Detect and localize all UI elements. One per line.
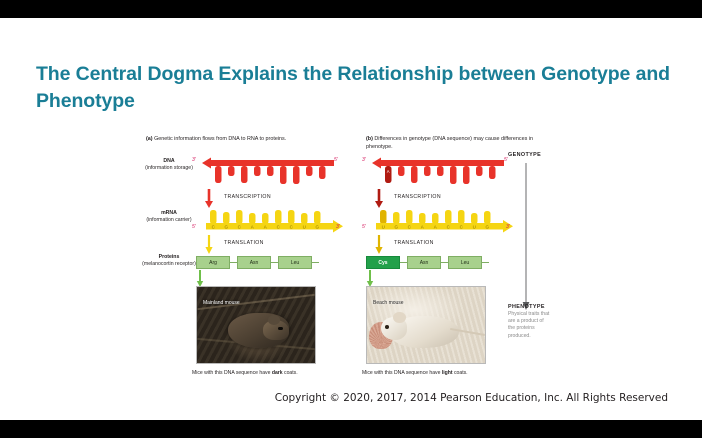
- panel-a-photo-caption: Mice with this DNA sequence have dark co…: [192, 370, 342, 376]
- panel-a-dna-strand: 3′ 5′: [202, 156, 334, 188]
- genotype-to-phenotype-arrow-icon: [521, 163, 531, 311]
- amino-acid-box: Leu: [278, 256, 312, 269]
- mrna-label-title: mRNA: [142, 210, 196, 217]
- caption-emphasis: dark: [272, 370, 283, 376]
- dna-label-title: DNA: [142, 158, 196, 165]
- panel-a-transcription-arrow-icon: [204, 189, 214, 209]
- amino-acid-box: Asn: [237, 256, 271, 269]
- panel-b-photo-caption: Mice with this DNA sequence have light c…: [362, 370, 512, 376]
- svg-text:C: C: [460, 225, 463, 230]
- peptide-bond: [400, 262, 407, 263]
- genotype-phenotype-axis: GENOTYPE PHENOTYPE Physical traits that …: [508, 152, 578, 158]
- letterbox-top: [0, 0, 702, 18]
- caption-suffix: coats.: [283, 370, 298, 376]
- copyright-notice: Copyright © 2020, 2017, 2014 Pearson Edu…: [275, 392, 668, 404]
- panel-a-protein-chain: Arg Asn Leu: [196, 256, 319, 269]
- amino-acid-box: Asn: [407, 256, 441, 269]
- central-dogma-figure: (a) Genetic information flows from DNA t…: [140, 116, 580, 381]
- protein-label-title: Proteins: [142, 254, 196, 261]
- mouse-ear: [268, 315, 280, 325]
- svg-text:G: G: [224, 225, 228, 230]
- mouse-eye: [278, 327, 282, 331]
- panel-b-mrna-left-prime: 5′: [362, 224, 366, 230]
- svg-text:A: A: [434, 225, 437, 230]
- protein-label-subtitle: (melanocortin receptor): [142, 261, 196, 267]
- protein-row-label: Proteins (melanocortin receptor): [142, 254, 196, 269]
- svg-text:U: U: [303, 225, 306, 230]
- mouse-eye: [385, 325, 389, 329]
- dna-row-label: DNA (information storage): [142, 158, 196, 173]
- panel-b-tag: (b): [366, 136, 373, 142]
- peptide-bond: [441, 262, 448, 263]
- svg-text:A: A: [251, 225, 254, 230]
- svg-text:C: C: [408, 225, 411, 230]
- panel-a-dna-right-prime: 5′: [334, 157, 338, 163]
- svg-text:G: G: [485, 225, 489, 230]
- panel-b-caption-text: Differences in genotype (DNA sequence) m…: [366, 136, 533, 150]
- dna-backbone-icon: A: [372, 156, 504, 188]
- panel-b-protein-chain: Cys Asn Leu: [366, 256, 489, 269]
- caption-emphasis: light: [442, 370, 453, 376]
- dna-label-subtitle: (information storage): [145, 165, 193, 171]
- svg-text:A: A: [264, 225, 267, 230]
- slide-canvas: The Central Dogma Explains the Relations…: [0, 18, 702, 420]
- panel-b-mrna-strand: 5′ 3′: [372, 208, 514, 234]
- panel-a-mrna-left-prime: 5′: [192, 224, 196, 230]
- panel-a-mrna-strand: 5′ 3′: [202, 208, 344, 234]
- phenotype-label: PHENOTYPE: [508, 304, 550, 310]
- mrna-backbone-icon: U G C A A C C U G: [372, 208, 514, 234]
- caption-prefix: Mice with this DNA sequence have: [362, 370, 442, 376]
- svg-text:A: A: [421, 225, 424, 230]
- panel-a-caption-text: Genetic information flows from DNA to RN…: [153, 136, 287, 142]
- panel-b-translation-arrow-icon: [374, 235, 384, 255]
- panel-b-dna-strand: 3′ 5′: [372, 156, 504, 188]
- panel-b-transcription-arrow-icon: [374, 189, 384, 209]
- slide-frame: The Central Dogma Explains the Relations…: [0, 0, 702, 438]
- amino-acid-box: Cys: [366, 256, 400, 269]
- svg-text:C: C: [212, 225, 215, 230]
- mrna-row-label: mRNA (information carrier): [142, 210, 196, 225]
- svg-text:C: C: [277, 225, 280, 230]
- genotype-label: GENOTYPE: [508, 152, 578, 158]
- peptide-bond: [312, 262, 319, 263]
- letterbox-bottom: [0, 420, 702, 438]
- panel-a-mrna-right-prime: 3′: [336, 224, 340, 230]
- phenotype-block: PHENOTYPE Physical traits that are a pro…: [508, 304, 550, 340]
- panel-b-translation-label: TRANSLATION: [394, 240, 434, 246]
- svg-text:C: C: [290, 225, 293, 230]
- svg-text:G: G: [315, 225, 319, 230]
- panel-b-transcription-label: TRANSCRIPTION: [394, 194, 441, 200]
- beach-mouse-photo-label: Beach mouse: [373, 300, 404, 306]
- svg-text:U: U: [382, 225, 385, 230]
- beach-mouse-photo: Beach mouse: [366, 286, 486, 364]
- panel-a-translation-arrow-icon: [204, 235, 214, 255]
- peptide-bond: [271, 262, 278, 263]
- svg-text:C: C: [238, 225, 241, 230]
- panel-a-transcription-label: TRANSCRIPTION: [224, 194, 271, 200]
- svg-text:A: A: [387, 169, 390, 174]
- svg-text:G: G: [394, 225, 398, 230]
- svg-text:C: C: [447, 225, 450, 230]
- panel-a-caption: (a) Genetic information flows from DNA t…: [146, 136, 314, 144]
- mrna-label-subtitle: (information carrier): [146, 217, 191, 223]
- svg-text:U: U: [473, 225, 476, 230]
- mrna-backbone-icon: C G C A A C C U G: [202, 208, 344, 234]
- mainland-mouse-photo: Mainland mouse: [196, 286, 316, 364]
- caption-suffix: coats.: [453, 370, 468, 376]
- panel-a-dna-left-prime: 3′: [192, 157, 196, 163]
- amino-acid-box: Arg: [196, 256, 230, 269]
- panel-b-mrna-right-prime: 3′: [506, 224, 510, 230]
- peptide-bond: [482, 262, 489, 263]
- peptide-bond: [230, 262, 237, 263]
- panel-b-caption: (b) Differences in genotype (DNA sequenc…: [366, 136, 534, 152]
- panel-a-tag: (a): [146, 136, 153, 142]
- page-title: The Central Dogma Explains the Relations…: [36, 61, 676, 115]
- amino-acid-box: Leu: [448, 256, 482, 269]
- dna-backbone-icon: [202, 156, 334, 188]
- panel-b-dna-left-prime: 3′: [362, 157, 366, 163]
- mainland-mouse-photo-label: Mainland mouse: [203, 300, 240, 306]
- panel-a-translation-label: TRANSLATION: [224, 240, 264, 246]
- caption-prefix: Mice with this DNA sequence have: [192, 370, 272, 376]
- phenotype-description: Physical traits that are a product of th…: [508, 311, 550, 340]
